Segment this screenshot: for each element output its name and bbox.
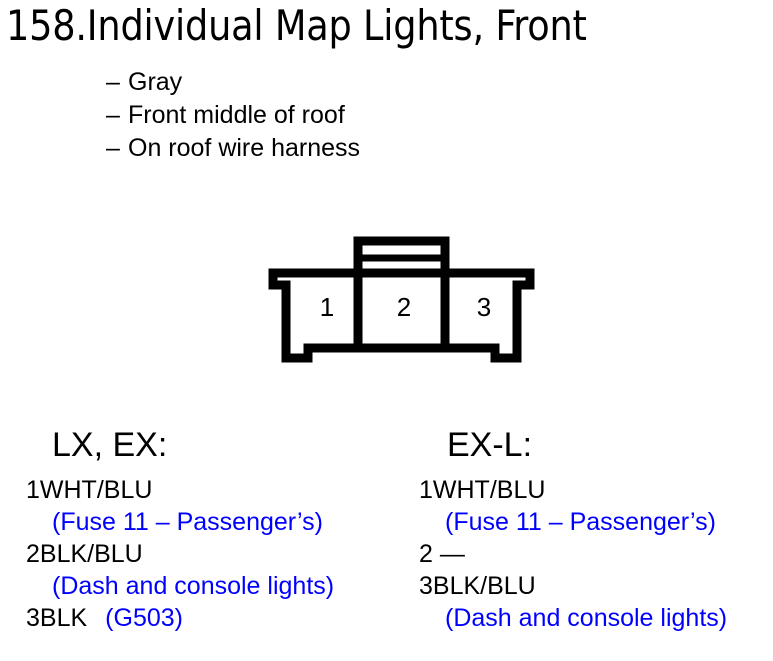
- pin-entry: 3BLK/BLU (Dash and console lights): [415, 570, 773, 634]
- list-item-label: Gray: [128, 68, 182, 96]
- pin-wire-label: 3BLK: [26, 604, 87, 632]
- en-dash-bullet-icon: –: [106, 66, 128, 99]
- pin-number-1: 1: [320, 292, 334, 322]
- en-dash-bullet-icon: –: [106, 132, 128, 165]
- pin-wire-label-row: 3BLK(G503): [22, 602, 407, 634]
- pin-wire-label: 1WHT/BLU: [22, 474, 407, 506]
- pin-description: (G503): [87, 604, 183, 632]
- pin-number-2: 2: [397, 292, 411, 322]
- pin-description: [465, 540, 483, 568]
- list-item: –Gray: [106, 66, 606, 99]
- connector-outline-svg: 1 2 3: [255, 228, 540, 373]
- pin-entry: 2BLK/BLU (Dash and console lights): [22, 538, 407, 602]
- variant-section-lx-ex: LX, EX: 1WHT/BLU (Fuse 11 – Passenger’s)…: [22, 424, 407, 634]
- pin-wire-label: 3BLK/BLU: [415, 570, 773, 602]
- variant-heading: LX, EX:: [22, 424, 407, 466]
- pin-entry: 1WHT/BLU (Fuse 11 – Passenger’s): [22, 474, 407, 538]
- pin-description: (Fuse 11 – Passenger’s): [22, 506, 407, 538]
- list-item-label: Front middle of roof: [128, 101, 345, 129]
- pin-entry: 2 —: [415, 538, 773, 570]
- pin-description: (Dash and console lights): [415, 602, 773, 634]
- pin-entry: 1WHT/BLU (Fuse 11 – Passenger’s): [415, 474, 773, 538]
- pin-wire-label-row: 2 —: [415, 538, 773, 570]
- spec-list: –Gray –Front middle of roof –On roof wir…: [106, 66, 606, 165]
- variant-heading: EX-L:: [415, 424, 773, 466]
- pin-wire-label: 2 —: [419, 540, 465, 568]
- connector-diagram: 1 2 3: [255, 228, 540, 373]
- pin-number-3: 3: [477, 292, 491, 322]
- list-item-label: On roof wire harness: [128, 134, 360, 162]
- list-item: –Front middle of roof: [106, 99, 606, 132]
- pin-wire-label: 2BLK/BLU: [22, 538, 407, 570]
- pin-description: (Dash and console lights): [22, 570, 407, 602]
- page-title: 158.Individual Map Lights, Front: [6, 2, 748, 50]
- pin-description: (Fuse 11 – Passenger’s): [415, 506, 773, 538]
- list-item: –On roof wire harness: [106, 132, 606, 165]
- variant-section-ex-l: EX-L: 1WHT/BLU (Fuse 11 – Passenger’s) 2…: [415, 424, 773, 634]
- en-dash-bullet-icon: –: [106, 99, 128, 132]
- pin-wire-label: 1WHT/BLU: [415, 474, 773, 506]
- pin-entry: 3BLK(G503): [22, 602, 407, 634]
